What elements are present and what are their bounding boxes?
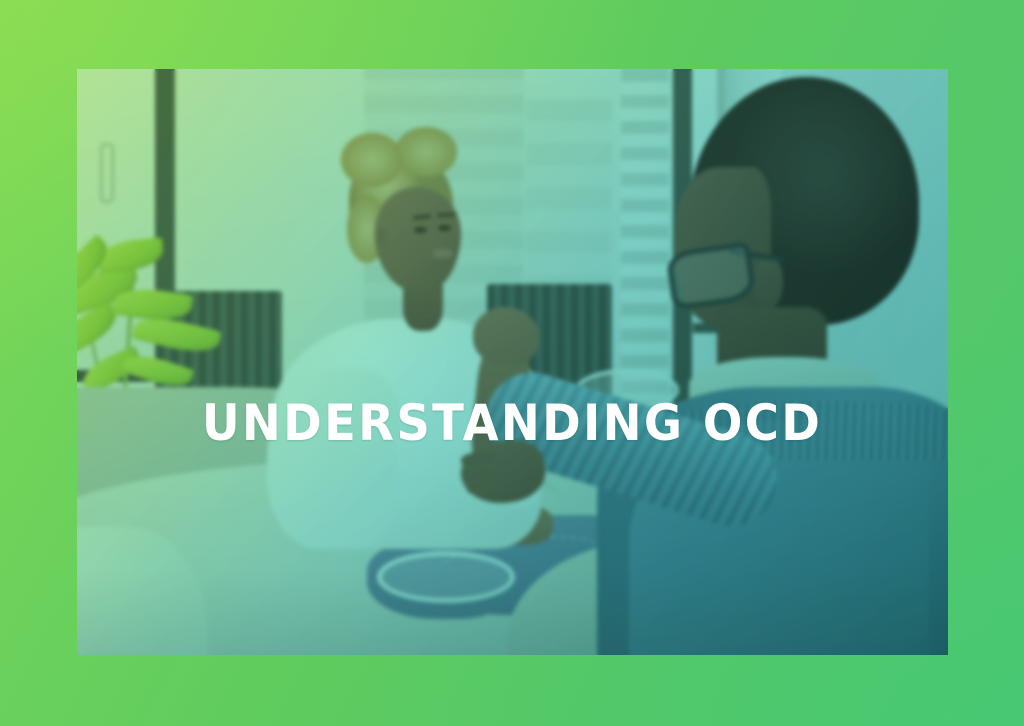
woman-hair-puff — [395, 127, 457, 177]
woman-eye — [438, 225, 451, 231]
man-ear — [753, 257, 783, 309]
window-handle-icon — [100, 143, 114, 203]
woman-ear — [375, 227, 388, 247]
building-balconies — [621, 69, 669, 399]
title-card-canvas: UNDERSTANDING OCD — [0, 0, 1024, 726]
photo-scene — [77, 69, 948, 655]
woman-eye — [414, 227, 427, 233]
woman-hair-puff — [341, 133, 403, 187]
hero-photo — [77, 69, 948, 655]
woman-lips — [433, 249, 453, 258]
sofa-shadow — [77, 569, 948, 655]
page-title: UNDERSTANDING OCD — [36, 398, 988, 448]
woman-hand — [473, 307, 539, 365]
